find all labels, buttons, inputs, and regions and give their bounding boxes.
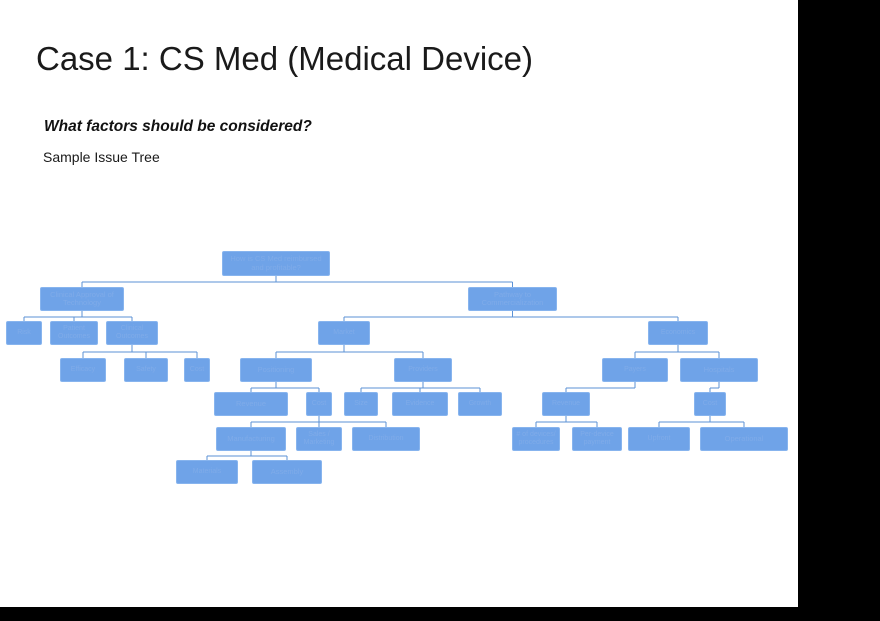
tree-node-clinoutcomes[interactable]: Clinical Outcomes <box>106 321 158 345</box>
tree-node-size[interactable]: Size <box>344 392 378 416</box>
tree-node-hospitals[interactable]: Hospitals <box>680 358 758 382</box>
tree-node-efficacy[interactable]: Efficacy <box>60 358 106 382</box>
tree-node-numdevices[interactable]: # of devices/ procedures <box>512 427 560 451</box>
tree-node-operational[interactable]: Operational <box>700 427 788 451</box>
tree-node-manufacturing[interactable]: Manufacturing <box>216 427 286 451</box>
tree-node-providers[interactable]: Providers <box>394 358 452 382</box>
tree-node-distribution[interactable]: Distribution <box>352 427 420 451</box>
tree-node-risk[interactable]: Risk <box>6 321 42 345</box>
tree-node-revenue2[interactable]: Revenue <box>542 392 590 416</box>
tree-node-revenue[interactable]: Revenue <box>214 392 288 416</box>
tree-node-economics[interactable]: Economics <box>648 321 708 345</box>
slide-canvas: Case 1: CS Med (Medical Device) What fac… <box>0 0 798 607</box>
tree-node-patient[interactable]: Patient Outcomes <box>50 321 98 345</box>
tree-node-cost3[interactable]: Cost <box>694 392 726 416</box>
tree-node-clinical[interactable]: Clinical Approval of Technology <box>40 287 124 311</box>
tree-node-safety[interactable]: Safety <box>124 358 168 382</box>
tree-node-materials[interactable]: Materials <box>176 460 238 484</box>
tree-node-upfront[interactable]: Upfront <box>628 427 690 451</box>
tree-node-perdevice[interactable]: Per-device payment <box>572 427 622 451</box>
tree-node-market[interactable]: Market <box>318 321 370 345</box>
tree-node-positioning[interactable]: Positioning <box>240 358 312 382</box>
tree-node-salesmktg[interactable]: Sales / Marketing <box>296 427 342 451</box>
tree-node-cost1[interactable]: Cost <box>184 358 210 382</box>
tree-node-assembly[interactable]: Assembly <box>252 460 322 484</box>
tree-node-cost2[interactable]: Cost <box>306 392 332 416</box>
tree-node-evidence[interactable]: Evidence <box>392 392 448 416</box>
tree-node-root[interactable]: How is CS Med reimbursed and profitable? <box>222 251 330 276</box>
issue-tree-diagram: How is CS Med reimbursed and profitable?… <box>0 0 798 607</box>
tree-node-pathway[interactable]: Pathway to Commercialization <box>468 287 557 311</box>
tree-node-growth[interactable]: Growth <box>458 392 502 416</box>
tree-node-payers[interactable]: Payers <box>602 358 668 382</box>
